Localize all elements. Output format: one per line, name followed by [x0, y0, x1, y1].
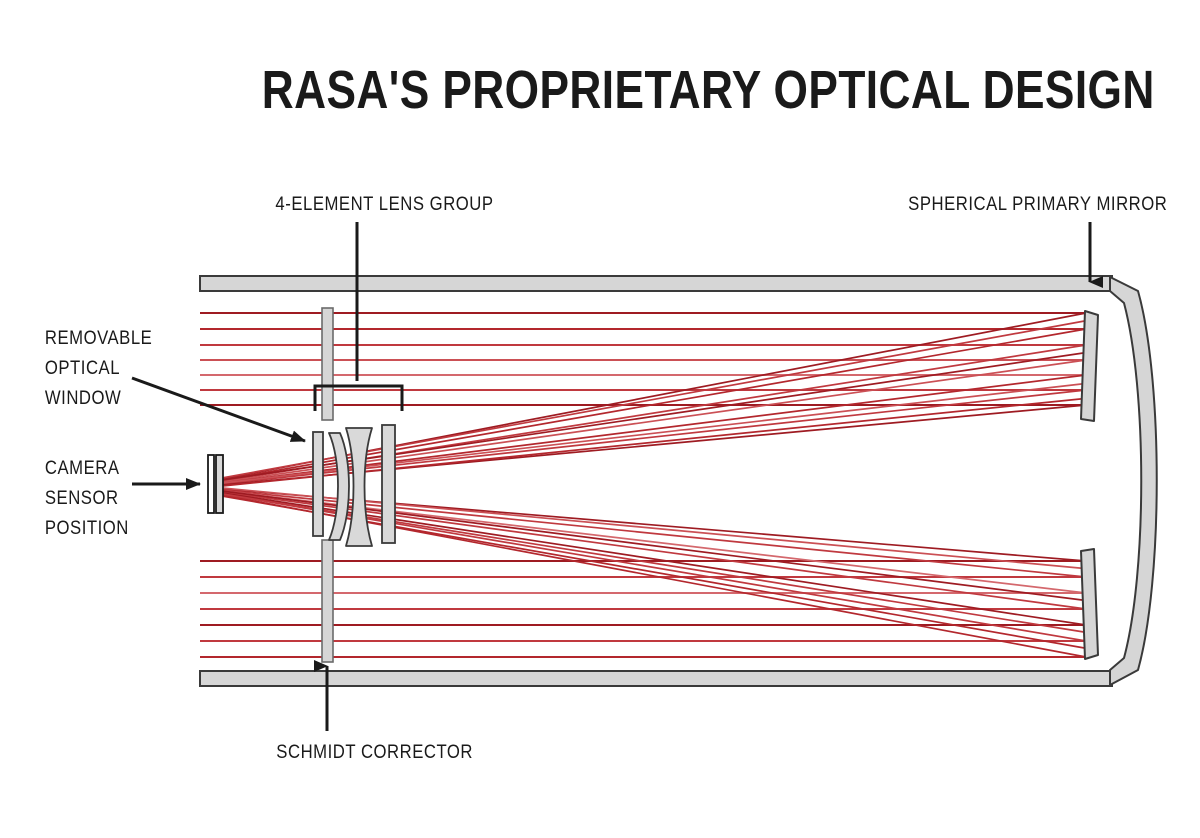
- lens-element-meniscus-convex: [329, 433, 349, 540]
- lens-element-flat-field: [382, 425, 395, 543]
- label-camera-sensor-line-3: POSITION: [45, 517, 129, 538]
- schmidt-corrector-upper-segment: [322, 308, 333, 420]
- primary-mirror-upper-segment: [1081, 311, 1098, 421]
- lens-element-removable-window: [313, 432, 323, 536]
- camera-sensor-plate: [208, 455, 223, 513]
- diagram-page: RASA'S PROPRIETARY OPTICAL DESIGN: [0, 0, 1200, 838]
- camera-sensor-bar-front: [208, 455, 214, 513]
- page-title: RASA'S PROPRIETARY OPTICAL DESIGN: [262, 60, 1155, 120]
- lens-element-biconcave: [346, 428, 372, 546]
- tube-wall-bottom: [200, 671, 1112, 686]
- label-removable-window-line-3: WINDOW: [45, 387, 121, 408]
- label-camera-sensor-line-1: CAMERA: [45, 457, 120, 478]
- camera-sensor-bar-back: [216, 455, 223, 513]
- leader-removable-window: [132, 378, 305, 441]
- label-lens-group: 4-ELEMENT LENS GROUP: [275, 193, 493, 214]
- schmidt-corrector-lower-segment: [322, 540, 333, 662]
- label-schmidt-corrector: SCHMIDT CORRECTOR: [276, 741, 473, 762]
- optical-design-diagram: RASA'S PROPRIETARY OPTICAL DESIGN: [0, 0, 1200, 838]
- ray-cv-u4: [222, 360, 1086, 482]
- mirror-cell-housing: [1110, 277, 1157, 685]
- label-removable-window-line-2: OPTICAL: [45, 357, 120, 378]
- label-primary-mirror: SPHERICAL PRIMARY MIRROR: [908, 193, 1167, 214]
- spherical-primary-mirror: [1081, 311, 1098, 659]
- primary-mirror-lower-segment: [1081, 549, 1098, 659]
- label-camera-sensor-line-2: SENSOR: [45, 487, 119, 508]
- label-removable-window-line-1: REMOVABLE: [45, 327, 152, 348]
- tube-wall-top: [200, 276, 1112, 291]
